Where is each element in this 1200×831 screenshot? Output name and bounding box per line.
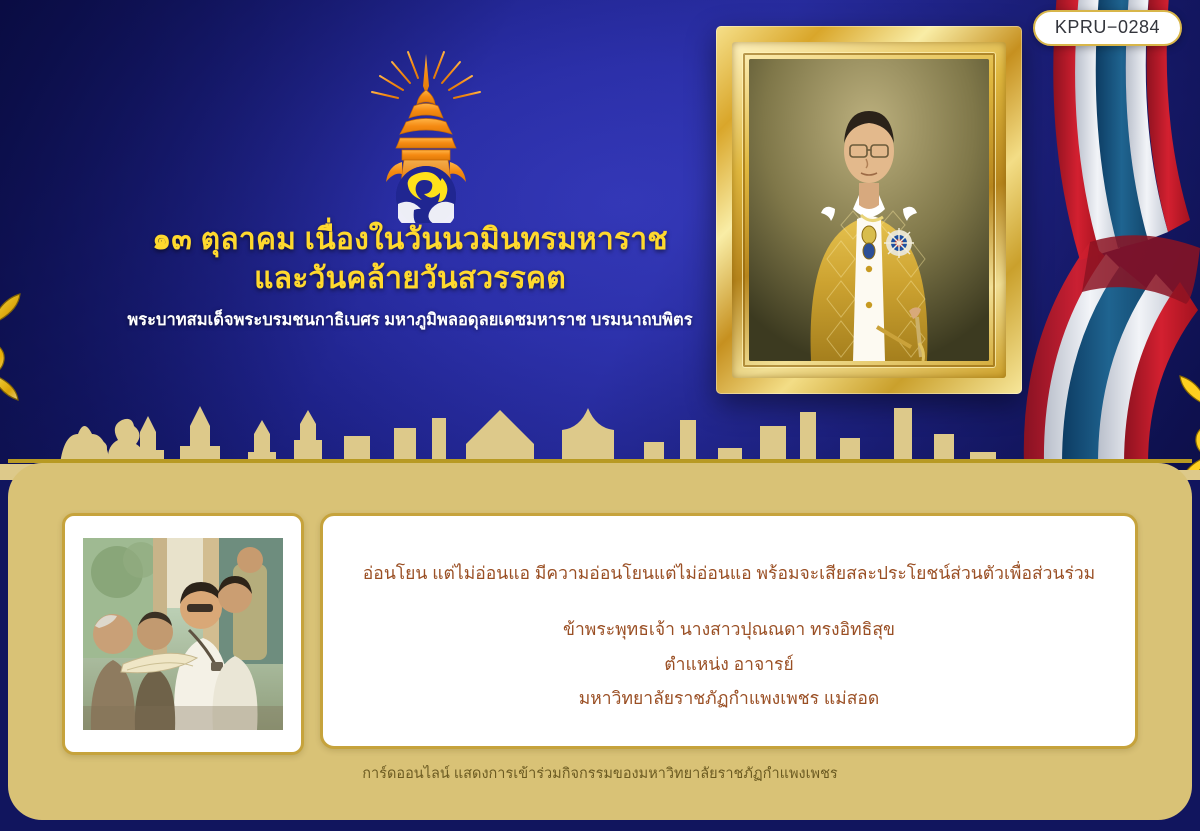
message-quote: อ่อนโยน แต่ไม่อ่อนแอ มีความอ่อนโยนแต่ไม่… <box>363 560 1095 586</box>
message-card: อ่อนโยน แต่ไม่อ่อนแอ มีความอ่อนโยนแต่ไม่… <box>320 513 1138 749</box>
card-id-badge: KPRU−0284 <box>1033 10 1182 46</box>
headline-subtitle: พระบาทสมเด็จพระบรมชนกาธิเบศร มหาภูมิพลอด… <box>60 311 760 330</box>
activity-photo <box>83 538 283 730</box>
footer-text: การ์ดออนไลน์ แสดงการเข้าร่วมกิจกรรมของมห… <box>0 762 1200 785</box>
activity-photo-card <box>62 513 304 755</box>
message-signer: ข้าพระพุทธเจ้า นางสาวปุณณดา ทรงอิทธิสุข <box>563 616 895 642</box>
royal-crown-cypher-emblem-icon <box>358 38 494 223</box>
portrait-photo <box>749 59 989 361</box>
message-organization: มหาวิทยาลัยราชภัฏกำแพงเพชร แม่สอด <box>579 685 880 711</box>
headline-block: ๑๓ ตุลาคม เนื่องในวันนวมินทรมหาราช และวั… <box>60 222 760 330</box>
online-card: ๑๓ ตุลาคม เนื่องในวันนวมินทรมหาราช และวั… <box>0 0 1200 831</box>
hero-background: ๑๓ ตุลาคม เนื่องในวันนวมินทรมหาราช และวั… <box>0 0 1200 480</box>
message-position: ตำแหน่ง อาจารย์ <box>664 651 793 677</box>
royal-portrait <box>716 26 1022 394</box>
panel-top-divider <box>8 459 1192 463</box>
headline-line-1: ๑๓ ตุลาคม เนื่องในวันนวมินทรมหาราช <box>60 222 760 257</box>
headline-line-2: และวันคล้ายวันสวรรคต <box>60 261 760 296</box>
